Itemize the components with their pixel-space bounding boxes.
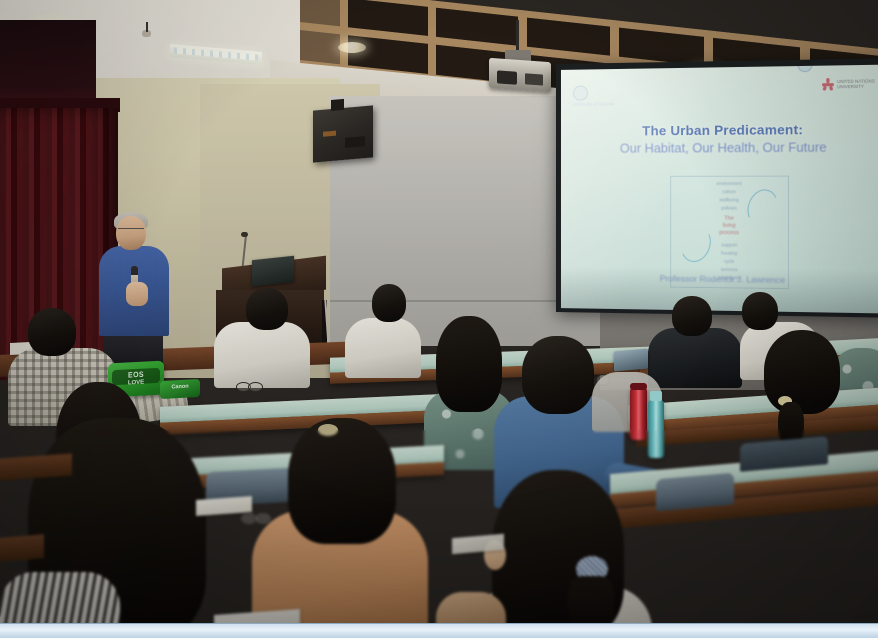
projector-lens-icon [497,70,517,84]
red-thermos[interactable] [630,388,647,440]
bottle-cap [650,391,662,401]
speaker-port [345,136,365,148]
thermos-cap [630,383,647,389]
chair-back [656,473,734,512]
unu-logo-line2: UNIVERSITY [837,84,875,90]
desk-left-lower [0,534,44,562]
unu-mark-icon [822,78,834,91]
canon-pouch[interactable]: Canon [160,379,200,399]
speaker-logo-badge [323,131,336,137]
eyeglasses-on-desk [254,512,272,525]
person-head [522,336,594,414]
diagram-arrow-left-icon [676,222,715,266]
diagram-label: wellbeing [720,197,739,202]
diagram-center-label: living [723,223,736,229]
projection-screen: University of Geneva UNITED NATIONS UNIV… [556,58,878,318]
diagram-label: housing [721,250,737,255]
canon-pouch-brand-label: Canon [160,383,200,391]
microphone-capsule-icon [241,232,248,237]
wall-speaker [313,105,373,162]
person-head [246,288,288,330]
diagram-label: support [721,242,736,247]
hair-tie [318,424,338,436]
person-torso [648,328,742,388]
wall-panel-seam [330,300,580,302]
un-emblem-icon [798,65,813,73]
diagram-label: culture [722,189,736,194]
person-head [672,296,712,336]
diagram-label: policies [721,205,736,210]
person-head [742,292,778,330]
teal-water-bottle[interactable] [648,400,664,458]
university-of-geneva-logo: University of Geneva [573,85,614,107]
screen-shadow [561,266,878,313]
laptop-on-desk [614,349,648,372]
ceiling-downlight [338,42,366,53]
ceiling-hanger-rod [146,22,148,32]
lecture-hall-photo: University of Geneva UNITED NATIONS UNIV… [0,0,878,638]
presenter-hands [126,282,148,306]
person-head [436,316,502,412]
diagram-arrow-right-icon [743,185,783,229]
speaker-bracket-icon [331,99,344,111]
person-torso [214,322,310,388]
eyeglasses-on-desk [248,382,263,392]
slide-subtitle: Our Habitat, Our Health, Our Future [561,140,878,156]
diagram-center-label: The [724,216,734,222]
person-head [28,308,76,356]
projector-vent [525,73,543,85]
united-nations-university-logo: UNITED NATIONS UNIVERSITY [822,77,875,90]
ceiling-projector [489,58,551,92]
person-head [764,330,840,414]
podium-monitor [252,256,294,286]
diagram-center-label: process [719,230,739,236]
person-head [288,418,396,544]
geneva-crest-icon [573,86,588,101]
geneva-logo-text: University of Geneva [573,101,614,106]
slide-surface: University of Geneva UNITED NATIONS UNIV… [561,65,878,314]
person-head [372,284,406,322]
slide-title: The Urban Predicament: [561,121,878,139]
diagram-label: environment [717,181,742,186]
presenter-glasses-icon [118,228,144,234]
bottom-strip [0,623,878,638]
diagram-label: cycle [724,259,734,264]
person-torso [345,318,421,378]
projector-mount-rod [516,20,519,54]
